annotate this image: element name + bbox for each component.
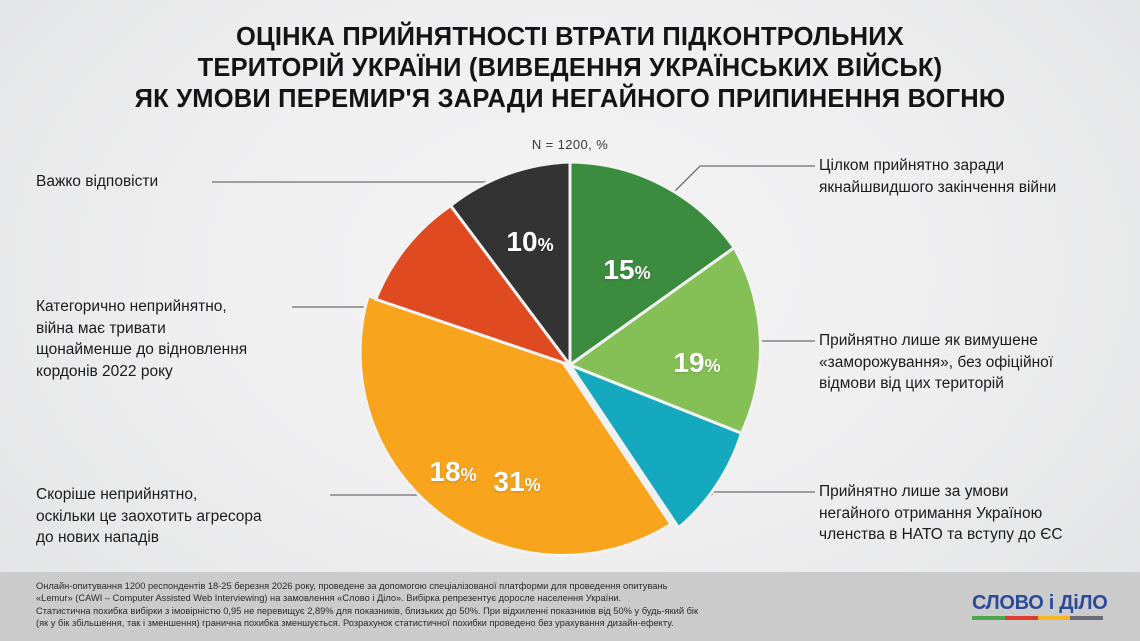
- logo-bar-yellow: [1038, 616, 1071, 620]
- callout-line: негайного отримання Україною: [819, 503, 1131, 525]
- methodology-line: (як у бік збільшення, так і зменшення) г…: [36, 617, 916, 629]
- callout-rather-unacceptable: Скоріше неприйнятно, оскільки це заохоти…: [36, 484, 336, 549]
- callout-fully-acceptable: Цілком прийнятно заради якнайшвидшого за…: [819, 155, 1119, 198]
- callout-line: Прийнятно лише за умови: [819, 481, 1131, 503]
- methodology-note: Онлайн-опитування 1200 респондентів 18-2…: [36, 580, 916, 629]
- logo-bar-gray: [1070, 616, 1103, 620]
- logo-wordmark: СЛОВО і ДіЛО: [972, 592, 1104, 614]
- title-line-2: ТЕРИТОРІЙ УКРАЇНИ (ВИВЕДЕННЯ УКРАЇНСЬКИХ…: [0, 53, 1140, 84]
- callout-nato-eu-condition: Прийнятно лише за умови негайного отрима…: [819, 481, 1131, 546]
- sample-size-subtitle: N = 1200, %: [0, 137, 1140, 152]
- slice-value-freeze-only: 19%: [673, 347, 720, 379]
- callout-line: кордонів 2022 року: [36, 361, 326, 383]
- logo-bar-green: [972, 616, 1005, 620]
- callout-line: Категорично неприйнятно,: [36, 296, 326, 318]
- slice-value-fully-acceptable: 15%: [603, 254, 650, 286]
- methodology-line: «Lemur» (CAWI – Computer Assisted Web In…: [36, 592, 916, 604]
- callout-line: до нових нападів: [36, 527, 336, 549]
- methodology-line: Онлайн-опитування 1200 респондентів 18-2…: [36, 580, 916, 592]
- callout-line: Скоріше неприйнятно,: [36, 484, 336, 506]
- callout-line: Цілком прийнятно заради: [819, 155, 1119, 177]
- callout-line: членства в НАТО та вступу до ЄС: [819, 524, 1131, 546]
- pie-chart: 15% 19% 7% 31% 18% 10%: [360, 152, 780, 572]
- callout-line: «заморожування», без офіційної: [819, 352, 1129, 374]
- title-line-1: ОЦІНКА ПРИЙНЯТНОСТІ ВТРАТИ ПІДКОНТРОЛЬНИ…: [0, 22, 1140, 53]
- callout-line: якнайшвидшого закінчення війни: [819, 177, 1119, 199]
- slice-value-rather-unacceptable: 31%: [493, 466, 540, 498]
- slice-value-categorically-unacceptable: 18%: [429, 456, 476, 488]
- slice-value-hard-to-answer: 10%: [506, 226, 553, 258]
- callout-freeze-only: Прийнятно лише як вимушене «заморожуванн…: [819, 330, 1129, 395]
- methodology-line: Статистична похибка вибірки з імовірніст…: [36, 605, 916, 617]
- callout-line: Прийнятно лише як вимушене: [819, 330, 1129, 352]
- callout-categorically-unacceptable: Категорично неприйнятно, війна має трива…: [36, 296, 326, 382]
- page-title: ОЦІНКА ПРИЙНЯТНОСТІ ВТРАТИ ПІДКОНТРОЛЬНИ…: [0, 22, 1140, 115]
- callout-line: Важко відповісти: [36, 171, 236, 193]
- logo-bar-red: [1005, 616, 1038, 620]
- callout-hard-to-answer: Важко відповісти: [36, 171, 236, 193]
- infographic-root: ОЦІНКА ПРИЙНЯТНОСТІ ВТРАТИ ПІДКОНТРОЛЬНИ…: [0, 0, 1140, 641]
- callout-line: оскільки це заохотить агресора: [36, 506, 336, 528]
- callout-line: щонайменше до відновлення: [36, 339, 326, 361]
- callout-line: відмови від цих територій: [819, 373, 1129, 395]
- title-line-3: ЯК УМОВИ ПЕРЕМИР'Я ЗАРАДИ НЕГАЙНОГО ПРИП…: [0, 84, 1140, 115]
- callout-line: війна має тривати: [36, 318, 326, 340]
- logo-color-bar: [972, 616, 1103, 620]
- slovo-i-dilo-logo[interactable]: СЛОВО і ДіЛО: [972, 592, 1104, 620]
